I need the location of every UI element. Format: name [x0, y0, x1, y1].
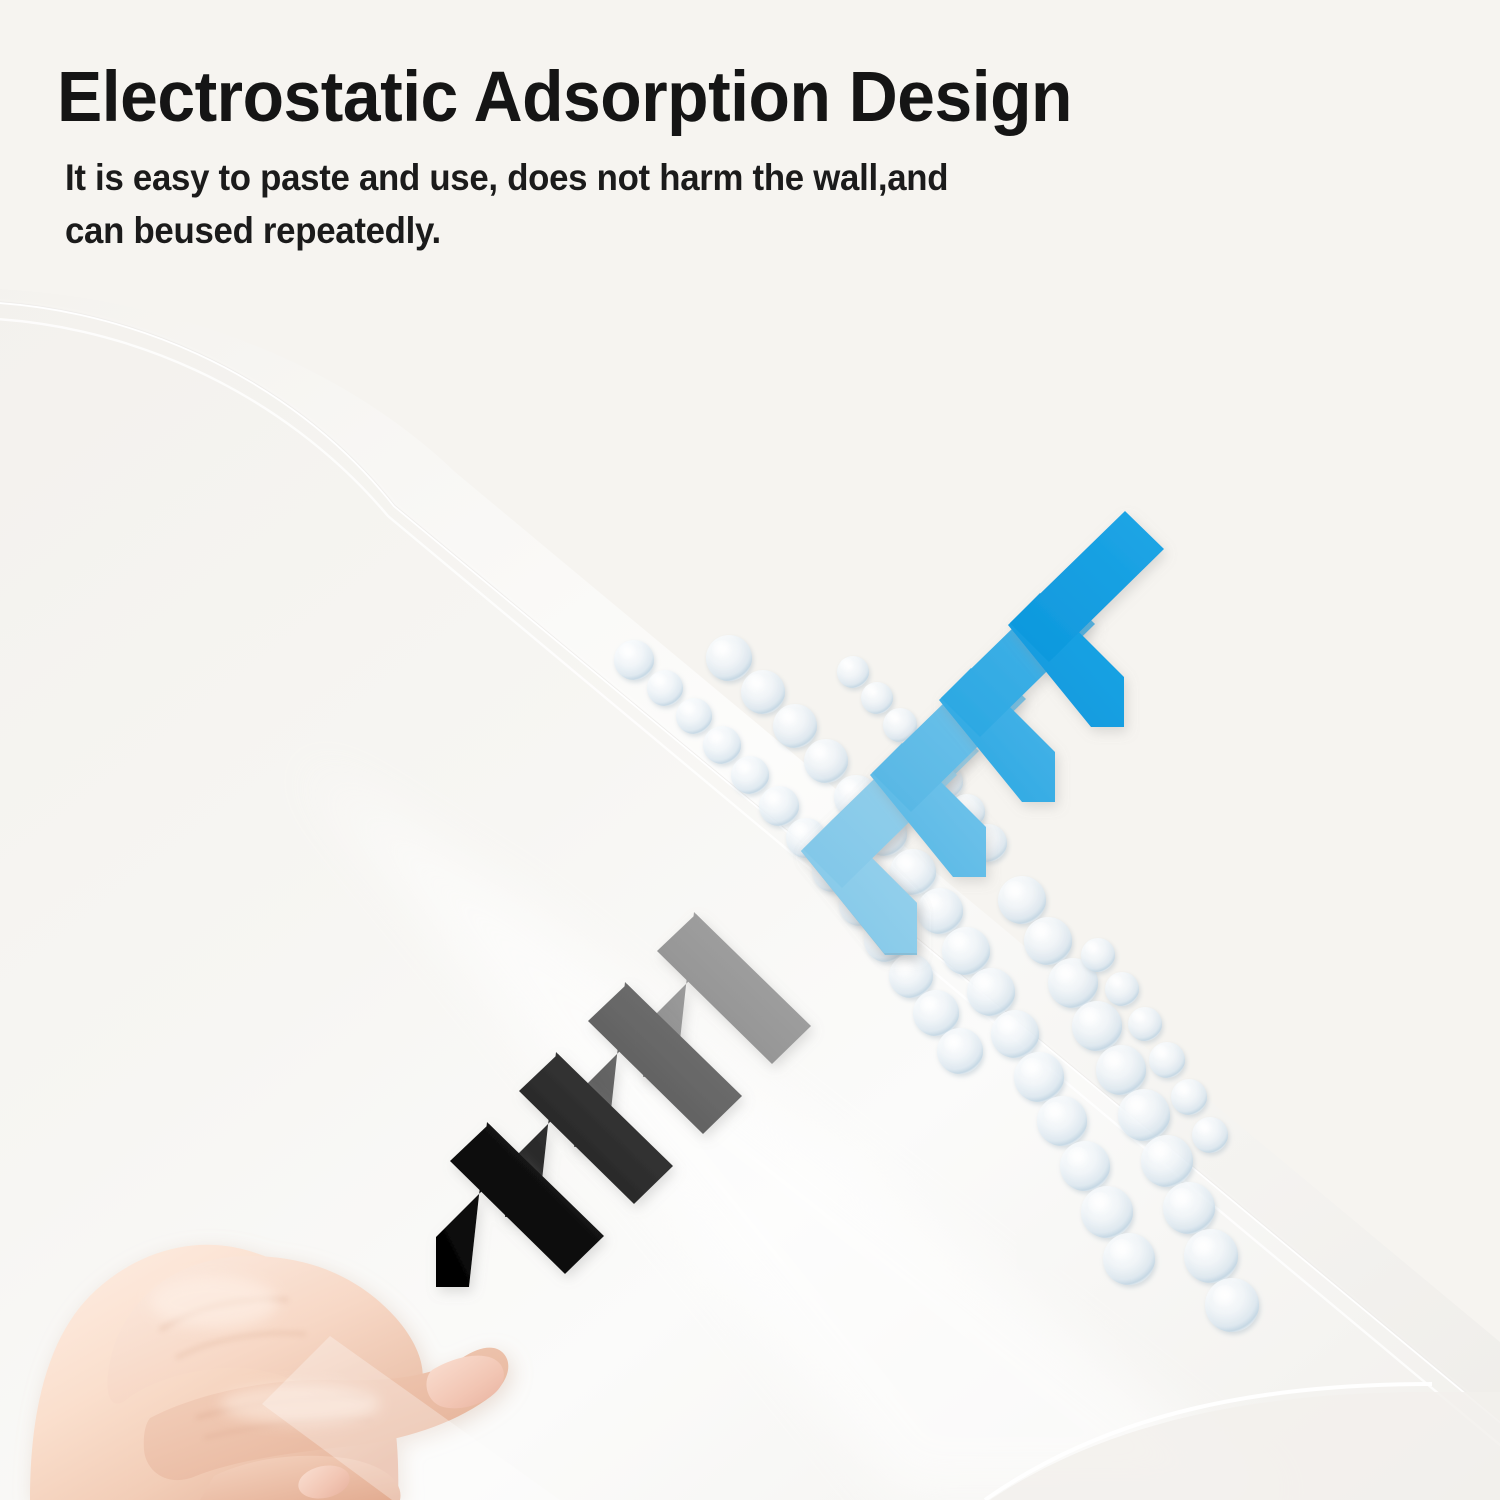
feature-copy: Electrostatic Adsorption Design It is ea… [57, 62, 1357, 257]
subtitle-line-2: can beused repeatedly. [65, 205, 1240, 258]
page-subtitle: It is easy to paste and use, does not ha… [65, 152, 1240, 257]
product-feature-banner: Electrostatic Adsorption Design It is ea… [0, 0, 1500, 1500]
page-title: Electrostatic Adsorption Design [57, 62, 1299, 134]
subtitle-line-1: It is easy to paste and use, does not ha… [65, 152, 1240, 205]
